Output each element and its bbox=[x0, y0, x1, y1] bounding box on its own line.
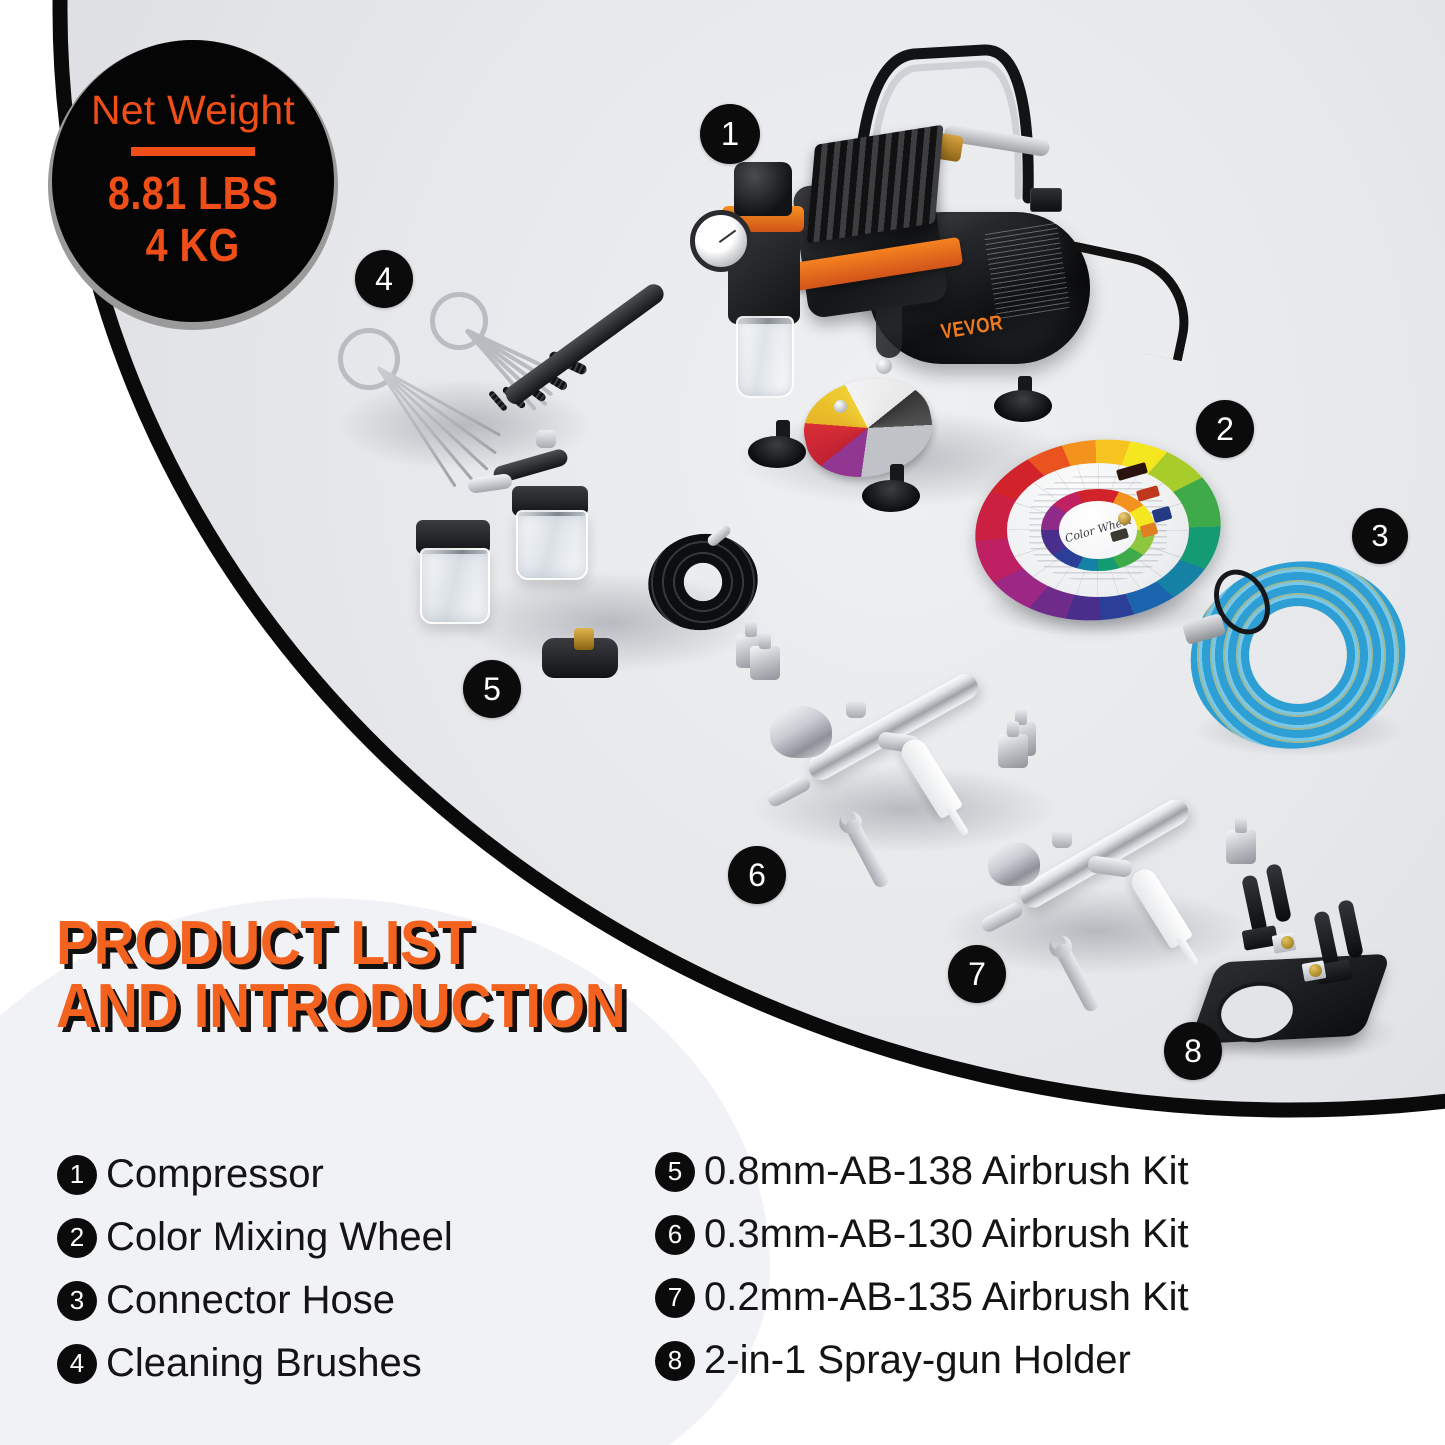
suction-foot bbox=[994, 390, 1052, 422]
legend-number: 1 bbox=[57, 1155, 97, 1195]
airbrush-130-paint-cup bbox=[770, 706, 832, 758]
callout-number: 4 bbox=[375, 261, 393, 298]
callout-badge-1: 1 bbox=[700, 104, 760, 164]
legend-label: 0.2mm-AB-135 Airbrush Kit bbox=[704, 1275, 1189, 1320]
list-item: 3 Connector Hose bbox=[57, 1269, 453, 1332]
callout-badge-3: 3 bbox=[1352, 508, 1408, 564]
suction-foot bbox=[862, 480, 920, 512]
callout-number: 1 bbox=[721, 115, 739, 153]
pressure-gauge bbox=[690, 210, 752, 272]
wheel-center-pin bbox=[1118, 512, 1131, 525]
callout-number: 7 bbox=[968, 956, 986, 993]
siphon-jar bbox=[516, 510, 588, 580]
legend-label: 2-in-1 Spray-gun Holder bbox=[704, 1338, 1131, 1383]
airbrush-130-trigger bbox=[846, 700, 866, 718]
nozzle-adapter bbox=[750, 646, 780, 680]
compressor-spec-label bbox=[984, 223, 1071, 320]
legend-number: 2 bbox=[57, 1218, 97, 1258]
hose-adapter bbox=[1226, 830, 1256, 864]
list-item: 6 0.3mm-AB-130 Airbrush Kit bbox=[655, 1203, 1189, 1266]
connector-hose-photo bbox=[1190, 562, 1406, 748]
list-item: 1 Compressor bbox=[57, 1143, 453, 1206]
badge-disc: Net Weight 8.81 LBS 4 KG bbox=[52, 40, 334, 322]
spare-jar bbox=[420, 548, 490, 624]
callout-number: 6 bbox=[748, 857, 766, 894]
legend-label: Connector Hose bbox=[106, 1278, 395, 1323]
callout-number: 8 bbox=[1184, 1033, 1202, 1070]
callout-badge-8: 8 bbox=[1164, 1022, 1222, 1080]
list-item: 5 0.8mm-AB-138 Airbrush Kit bbox=[655, 1140, 1189, 1203]
airbrush-138-nozzle bbox=[467, 473, 513, 494]
nozzle-adapter bbox=[998, 734, 1028, 768]
airbrush-kit-138-photo bbox=[450, 372, 780, 702]
screw-icon bbox=[876, 358, 892, 374]
airbrush-135-trigger bbox=[1052, 830, 1072, 848]
infographic-page: VEVOR Color Wheel bbox=[0, 0, 1445, 1445]
holder-screw bbox=[1281, 936, 1294, 949]
power-switch[interactable] bbox=[1030, 188, 1062, 212]
brass-valve bbox=[574, 628, 594, 650]
legend-number: 8 bbox=[655, 1341, 695, 1381]
legend-number: 4 bbox=[57, 1344, 97, 1384]
callout-badge-7: 7 bbox=[948, 945, 1006, 1003]
list-item: 2 Color Mixing Wheel bbox=[57, 1206, 453, 1269]
airbrush-138-trigger bbox=[536, 430, 556, 448]
regulator-knob[interactable] bbox=[734, 162, 792, 216]
net-weight-kg: 4 KG bbox=[146, 220, 240, 272]
legend-left-column: 1 Compressor 2 Color Mixing Wheel 3 Conn… bbox=[57, 1143, 453, 1395]
legend-label: 0.3mm-AB-130 Airbrush Kit bbox=[704, 1212, 1189, 1257]
page-title: PRODUCT LIST AND INTRODUCTION bbox=[56, 912, 696, 1038]
color-mixing-wheel-photo: Color Wheel bbox=[975, 440, 1221, 620]
legend-right-column: 5 0.8mm-AB-138 Airbrush Kit 6 0.3mm-AB-1… bbox=[655, 1140, 1189, 1392]
callout-number: 3 bbox=[1371, 518, 1388, 554]
callout-badge-6: 6 bbox=[728, 846, 786, 904]
legend-label: Color Mixing Wheel bbox=[106, 1215, 453, 1260]
net-weight-title: Net Weight bbox=[91, 90, 295, 131]
callout-badge-2: 2 bbox=[1196, 400, 1254, 458]
list-item: 7 0.2mm-AB-135 Airbrush Kit bbox=[655, 1266, 1189, 1329]
net-weight-lbs: 8.81 LBS bbox=[108, 168, 279, 220]
list-item: 4 Cleaning Brushes bbox=[57, 1332, 453, 1395]
legend-number: 6 bbox=[655, 1215, 695, 1255]
list-item: 8 2-in-1 Spray-gun Holder bbox=[655, 1329, 1189, 1392]
legend-number: 5 bbox=[655, 1152, 695, 1192]
title-line-2: AND INTRODUCTION bbox=[56, 975, 645, 1038]
legend-label: 0.8mm-AB-138 Airbrush Kit bbox=[704, 1149, 1189, 1194]
legend-label: Compressor bbox=[106, 1152, 324, 1197]
screw-icon bbox=[834, 400, 847, 413]
legend-label: Cleaning Brushes bbox=[106, 1341, 422, 1386]
callout-badge-5: 5 bbox=[463, 660, 521, 718]
airbrush-135-lever bbox=[1087, 855, 1133, 878]
holder-screw bbox=[1309, 964, 1322, 977]
title-line-1: PRODUCT LIST bbox=[56, 912, 645, 975]
callout-number: 5 bbox=[483, 671, 501, 708]
airbrush-135-paint-cup bbox=[988, 842, 1040, 886]
badge-divider bbox=[131, 147, 255, 156]
net-weight-badge: Net Weight 8.81 LBS 4 KG bbox=[48, 40, 338, 330]
callout-badge-4: 4 bbox=[355, 250, 413, 308]
callout-number: 2 bbox=[1216, 411, 1234, 448]
legend-number: 3 bbox=[57, 1281, 97, 1321]
spray-gun-holder-photo bbox=[1195, 862, 1400, 1057]
power-cord bbox=[1056, 242, 1202, 362]
legend-number: 7 bbox=[655, 1278, 695, 1318]
